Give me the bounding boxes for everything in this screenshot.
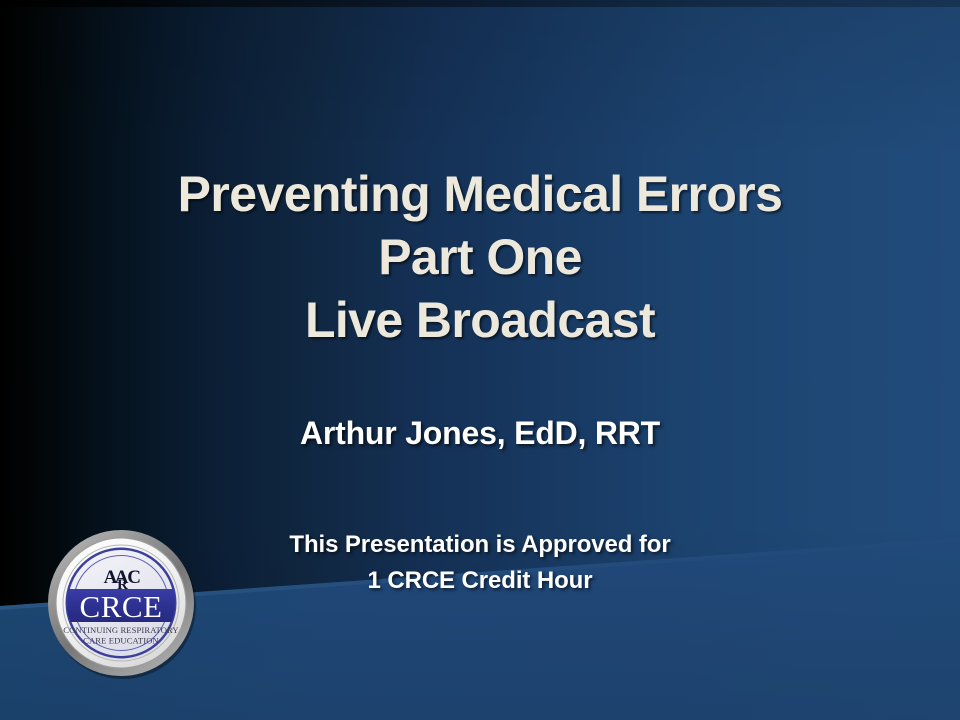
- seal-tagline-line-1: CONTINUING RESPIRATORY: [63, 625, 178, 635]
- slide-title: Preventing Medical Errors Part One Live …: [0, 163, 960, 352]
- presentation-slide: Preventing Medical Errors Part One Live …: [0, 0, 960, 720]
- top-edge-strip: [0, 0, 960, 7]
- crce-seal-logo: AA C R CRCE CONTINUING RESPIRATORY CARE …: [46, 527, 196, 679]
- presenter-name: Arthur Jones, EdD, RRT: [0, 415, 960, 452]
- seal-tagline-line-2: CARE EDUCATION: [83, 636, 159, 646]
- crce-wordmark: CRCE: [80, 589, 163, 624]
